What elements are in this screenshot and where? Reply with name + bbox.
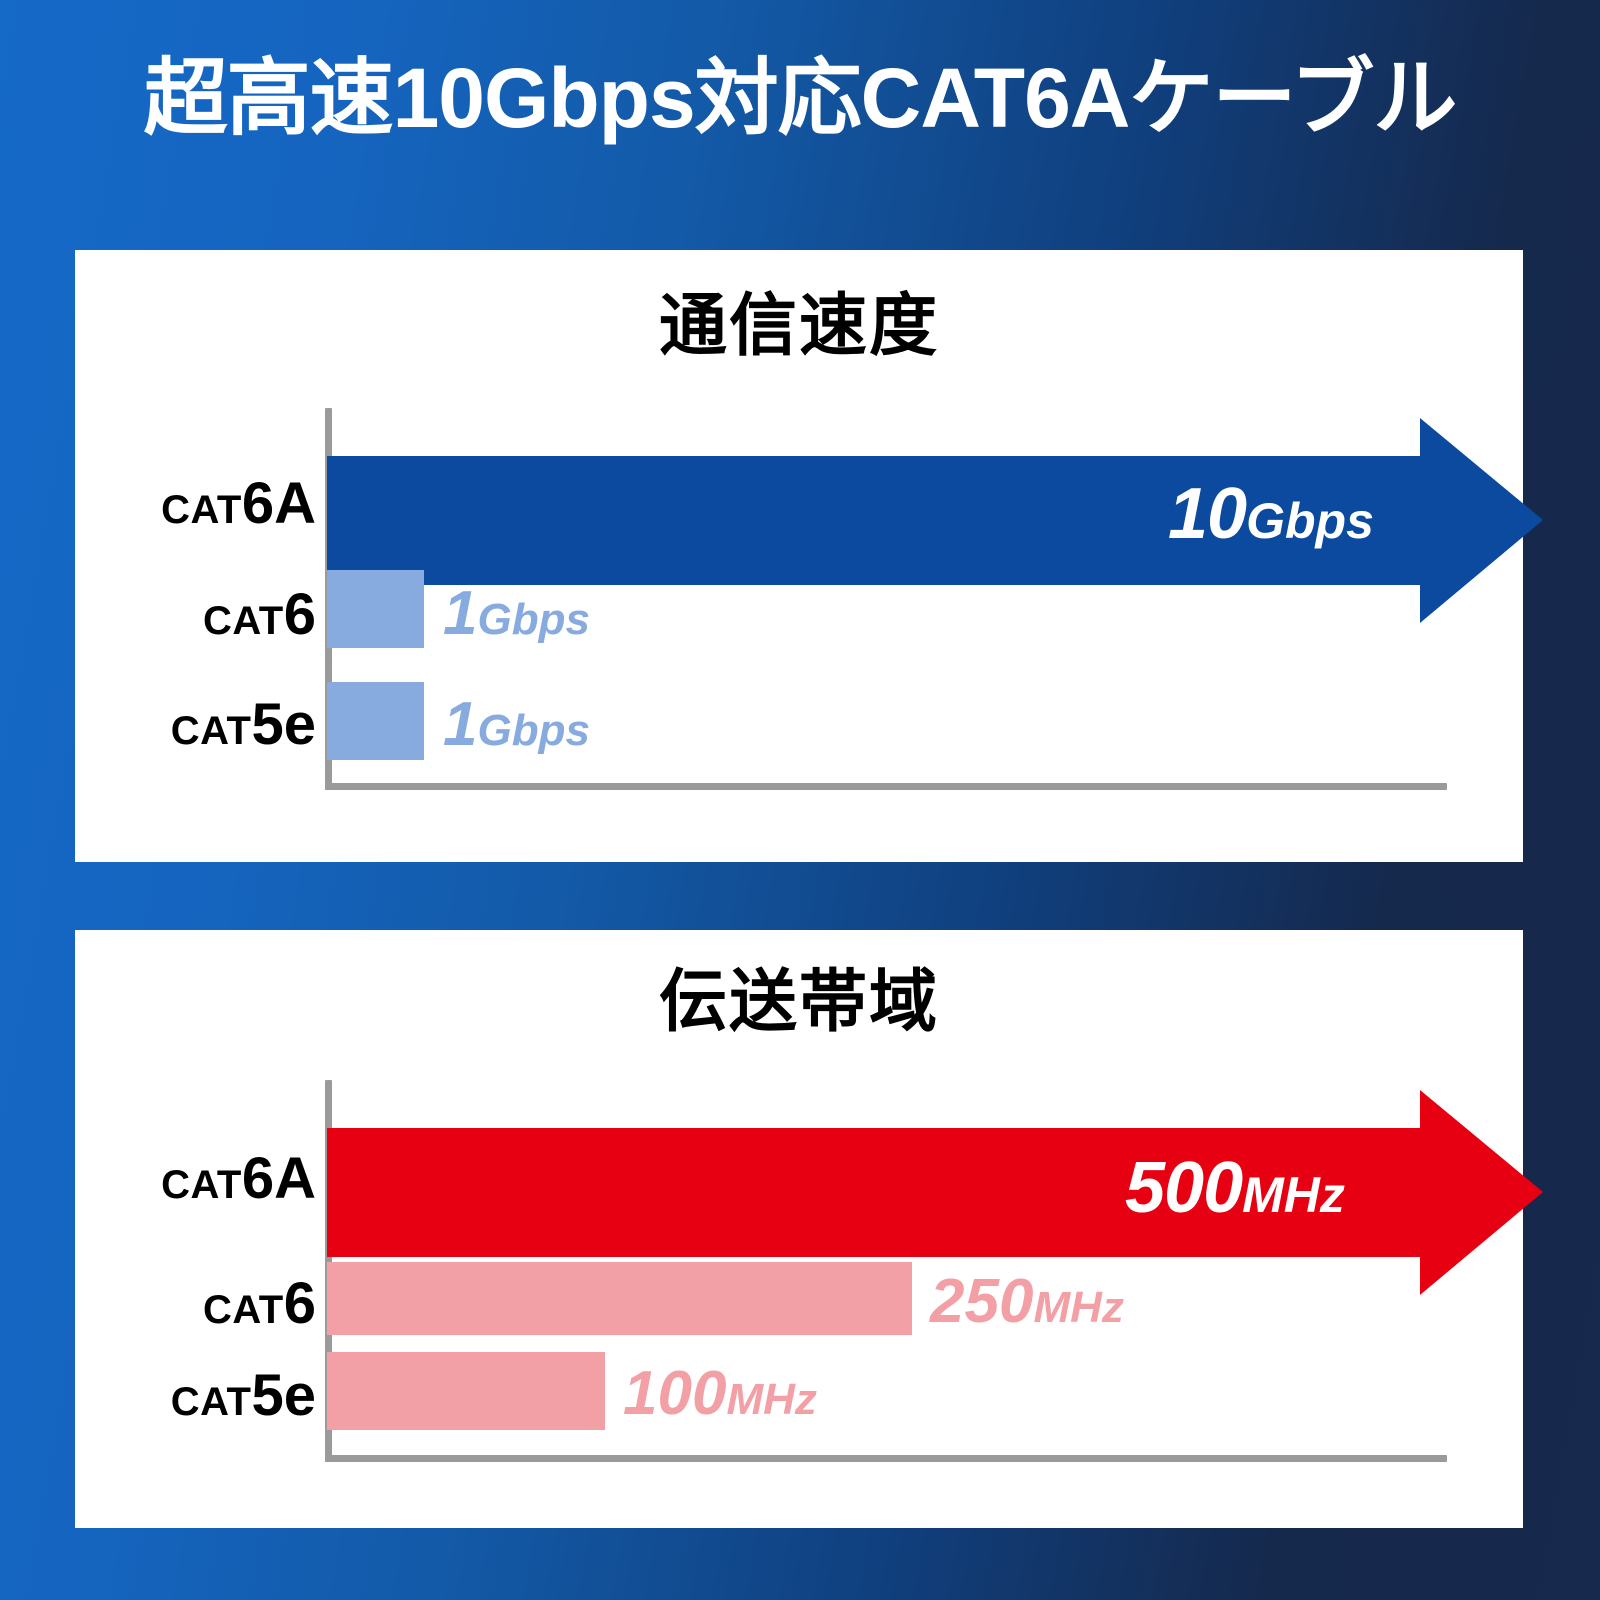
category-label-cat6a: CAT6A [161, 1150, 316, 1208]
bar-cat5e [327, 1352, 605, 1430]
page-title: 超高速10Gbps対応CAT6Aケーブル [0, 52, 1600, 144]
category-prefix: CAT [171, 1380, 252, 1424]
panel-bandwidth: 伝送帯域 CAT6A 500MHz [75, 930, 1523, 1528]
category-prefix: CAT [203, 1288, 284, 1332]
category-prefix: CAT [171, 709, 252, 753]
value-number: 1 [443, 690, 477, 759]
value-number: 250 [930, 1267, 1033, 1336]
x-axis-line [325, 783, 1447, 790]
value-label-cat5e: 1Gbps [443, 694, 590, 756]
value-label-cat6: 250MHz [930, 1271, 1124, 1333]
value-label-cat5e: 100MHz [623, 1363, 817, 1425]
category-label-cat5e: CAT5e [171, 696, 316, 754]
value-label-cat6a: 500MHz [1125, 1152, 1345, 1224]
bar-cat6 [327, 570, 424, 648]
value-unit: MHz [726, 1375, 816, 1424]
value-number: 100 [623, 1359, 726, 1428]
category-label-cat6: CAT6 [203, 1275, 316, 1333]
chart-bandwidth: CAT6A 500MHz CAT6 250MHz C [75, 930, 1523, 1528]
category-prefix: CAT [161, 488, 242, 532]
category-suffix: 6A [242, 471, 316, 536]
value-unit: MHz [1242, 1167, 1345, 1223]
x-axis-line [325, 1455, 1447, 1462]
value-number: 1 [443, 579, 477, 648]
value-unit: Gbps [1246, 493, 1374, 549]
category-label-cat6: CAT6 [203, 586, 316, 644]
category-label-cat6a: CAT6A [161, 475, 316, 533]
value-number: 500 [1125, 1148, 1242, 1228]
poster-canvas: 超高速10Gbps対応CAT6Aケーブル 通信速度 CAT6A 10Gbps [0, 0, 1600, 1600]
category-suffix: 6 [284, 582, 316, 647]
category-suffix: 6 [284, 1271, 316, 1336]
value-label-cat6: 1Gbps [443, 583, 590, 645]
category-suffix: 5e [251, 692, 316, 757]
value-number: 10 [1168, 474, 1246, 554]
chart-speed: CAT6A 10Gbps CAT6 1Gbps CA [75, 250, 1523, 862]
bar-cat6 [327, 1262, 912, 1335]
value-unit: Gbps [477, 706, 589, 755]
value-label-cat6a: 10Gbps [1168, 478, 1374, 550]
value-unit: Gbps [477, 595, 589, 644]
category-prefix: CAT [161, 1163, 242, 1207]
category-suffix: 6A [242, 1146, 316, 1211]
value-unit: MHz [1033, 1283, 1123, 1332]
panel-speed: 通信速度 CAT6A 10Gbps [75, 250, 1523, 862]
category-prefix: CAT [203, 599, 284, 643]
bar-cat5e [327, 682, 424, 760]
category-label-cat5e: CAT5e [171, 1367, 316, 1425]
category-suffix: 5e [251, 1363, 316, 1428]
